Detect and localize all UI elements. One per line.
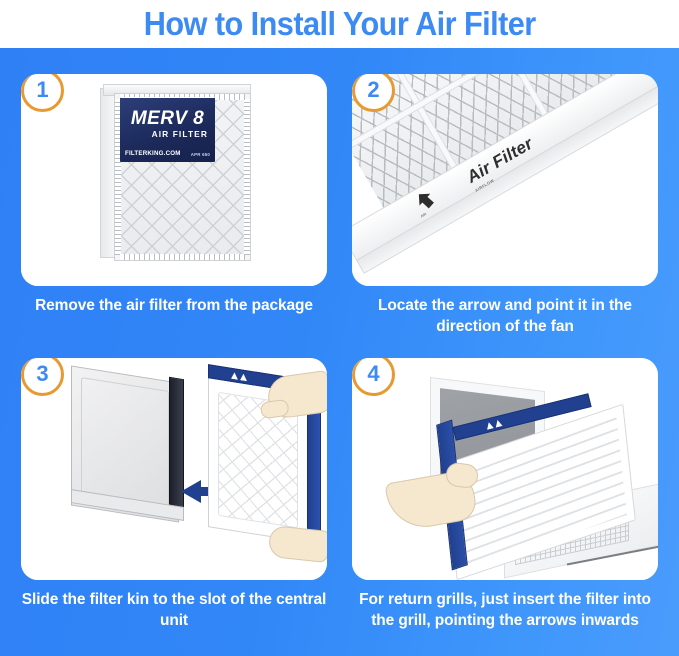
- merv-rating: MERV 8: [120, 109, 215, 128]
- filter-arrow-icon-a: [231, 372, 238, 380]
- step-1-caption: Remove the air filter from the package: [21, 295, 327, 316]
- hand-lower: [267, 525, 327, 563]
- step-3-caption: Slide the filter kin to the slot of the …: [21, 589, 327, 631]
- step-1-card: FILTER KING MADE IN USA: [21, 74, 327, 286]
- label-footer: FILTERKING.COM APR 650: [125, 150, 210, 157]
- filter-corner-assembly: AIR Air Filter AIRFLOW: [352, 74, 658, 286]
- step-4: 4 For return grills, just insert the fil…: [352, 358, 658, 631]
- page-title: How to Install Your Air Filter: [144, 7, 536, 41]
- label-brand-row: FILTER KING MADE IN USA: [122, 97, 213, 98]
- return-grill-illustration: [352, 358, 658, 580]
- steps-grid: FILTER KING MADE IN USA: [0, 48, 679, 656]
- title-band: How to Install Your Air Filter: [0, 0, 679, 48]
- product-type: AIR FILTER: [120, 130, 208, 139]
- filter-front-photo: FILTER KING MADE IN USA: [21, 74, 327, 286]
- step-2-number: 2: [367, 79, 379, 101]
- slide-filter-illustration: [21, 358, 327, 580]
- infographic-poster: How to Install Your Air Filter: [0, 0, 679, 656]
- arrow-head: [181, 480, 201, 503]
- step-3-number: 3: [36, 363, 48, 385]
- step-1: FILTER KING MADE IN USA: [21, 74, 327, 316]
- product-label: FILTER KING MADE IN USA: [120, 97, 215, 162]
- step-2-caption: Locate the arrow and point it in the dir…: [352, 295, 658, 337]
- step-3-card: 3: [21, 358, 327, 580]
- filter-arrow-icon-d: [494, 419, 502, 427]
- filter-arrow-icon-b: [240, 373, 247, 381]
- step-2-card: AIR Air Filter AIRFLOW 2: [352, 74, 658, 286]
- step-4-number: 4: [367, 363, 379, 385]
- air-filter-product: FILTER KING MADE IN USA: [100, 84, 251, 261]
- filter-pleat-bottom: [120, 254, 245, 260]
- step-2: AIR Air Filter AIRFLOW 2 Locate the arro…: [352, 74, 658, 337]
- filter-pleat-right: [244, 99, 250, 255]
- brand-website: FILTERKING.COM: [125, 150, 181, 157]
- step-4-card: 4: [352, 358, 658, 580]
- step-1-number: 1: [36, 79, 48, 101]
- filter-arrow-icon-c: [485, 421, 493, 429]
- apr-rating: APR 650: [191, 152, 210, 157]
- step-4-caption: For return grills, just insert the filte…: [352, 589, 658, 631]
- filter-corner-photo: AIR Air Filter AIRFLOW: [352, 74, 658, 286]
- step-3: 3 Slide the filter kin to the slot of th…: [21, 358, 327, 631]
